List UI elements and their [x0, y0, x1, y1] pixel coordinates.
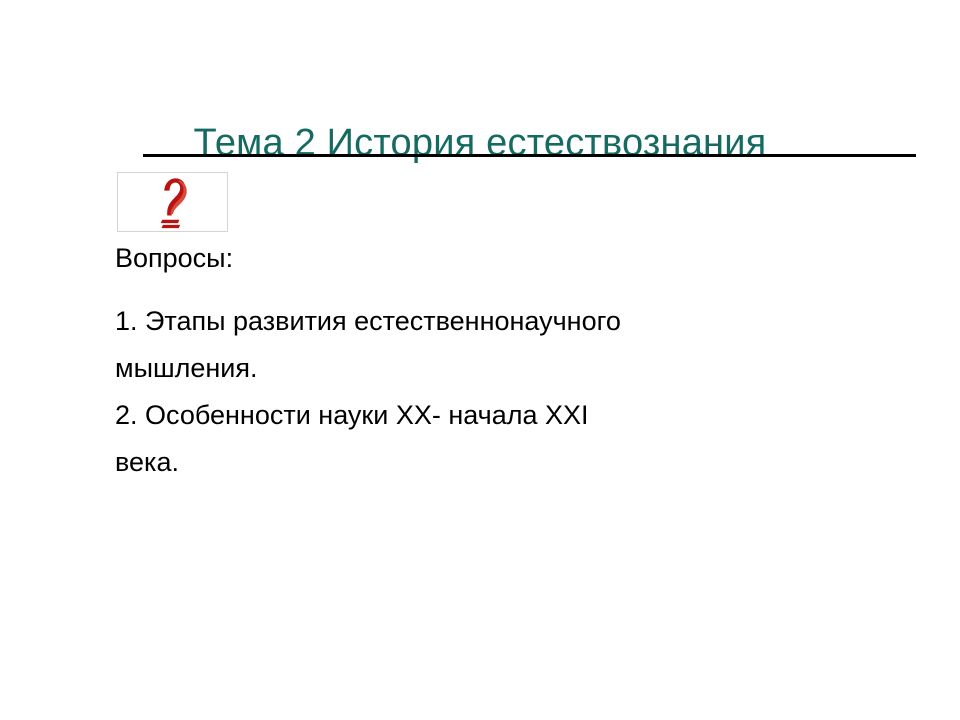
list-item: 1. Этапы развития естественнонаучного мы…: [115, 298, 675, 392]
questions-list: 1. Этапы развития естественнонаучного мы…: [115, 298, 815, 486]
question-1-line-1: 1. Этапы развития естественнонаучного: [115, 298, 675, 345]
presentation-slide: Тема 2 История естествознания Вопросы: 1…: [0, 0, 960, 720]
question-1-line-2: мышления.: [115, 345, 675, 392]
question-mark-icon-box: [117, 172, 228, 232]
list-item: 2. Особенности науки XX- начала XXI века…: [115, 392, 675, 486]
page-title: Тема 2 История естествознания: [0, 121, 960, 165]
questions-label: Вопросы:: [115, 240, 815, 276]
slide-body: Вопросы: 1. Этапы развития естественнона…: [115, 240, 815, 486]
title-divider: [143, 154, 916, 157]
question-2-line-1: 2. Особенности науки XX- начала XXI: [115, 392, 675, 439]
question-2-line-2: века.: [115, 439, 675, 486]
question-mark-icon: [118, 173, 227, 231]
